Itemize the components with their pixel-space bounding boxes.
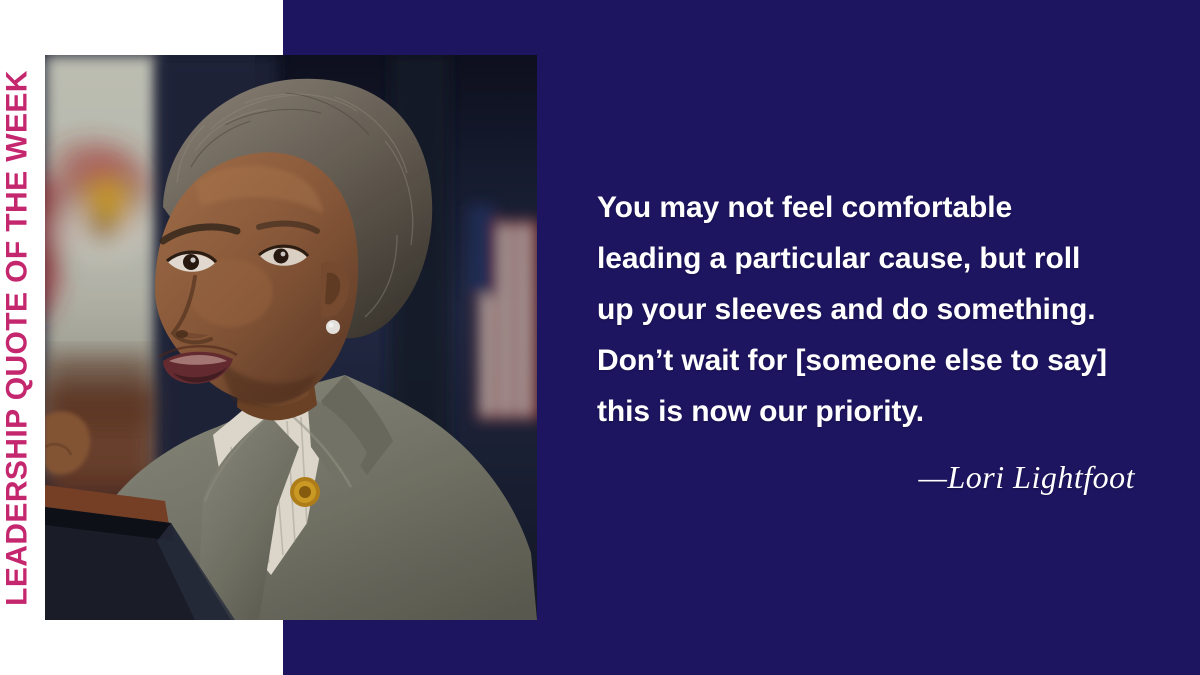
quote-line: You may not feel comfortable (597, 182, 1117, 233)
quote-text-block: You may not feel comfortable leading a p… (597, 182, 1117, 437)
quote-line: leading a particular cause, but roll (597, 233, 1117, 284)
ribbon-label: LEADERSHIP QUOTE OF THE WEEK (0, 70, 33, 606)
leadership-ribbon: LEADERSHIP QUOTE OF THE WEEK (0, 0, 33, 675)
quote-attribution: —Lori Lightfoot (597, 457, 1135, 497)
quote-line: Don’t wait for [someone else to say] (597, 335, 1117, 386)
quote-line: up your sleeves and do something. (597, 284, 1117, 335)
speaker-photo (45, 55, 537, 620)
quote-line: this is now our priority. (597, 386, 1117, 437)
speaker-photo-image (45, 55, 537, 620)
quote-card: LEADERSHIP QUOTE OF THE WEEK (0, 0, 1200, 675)
